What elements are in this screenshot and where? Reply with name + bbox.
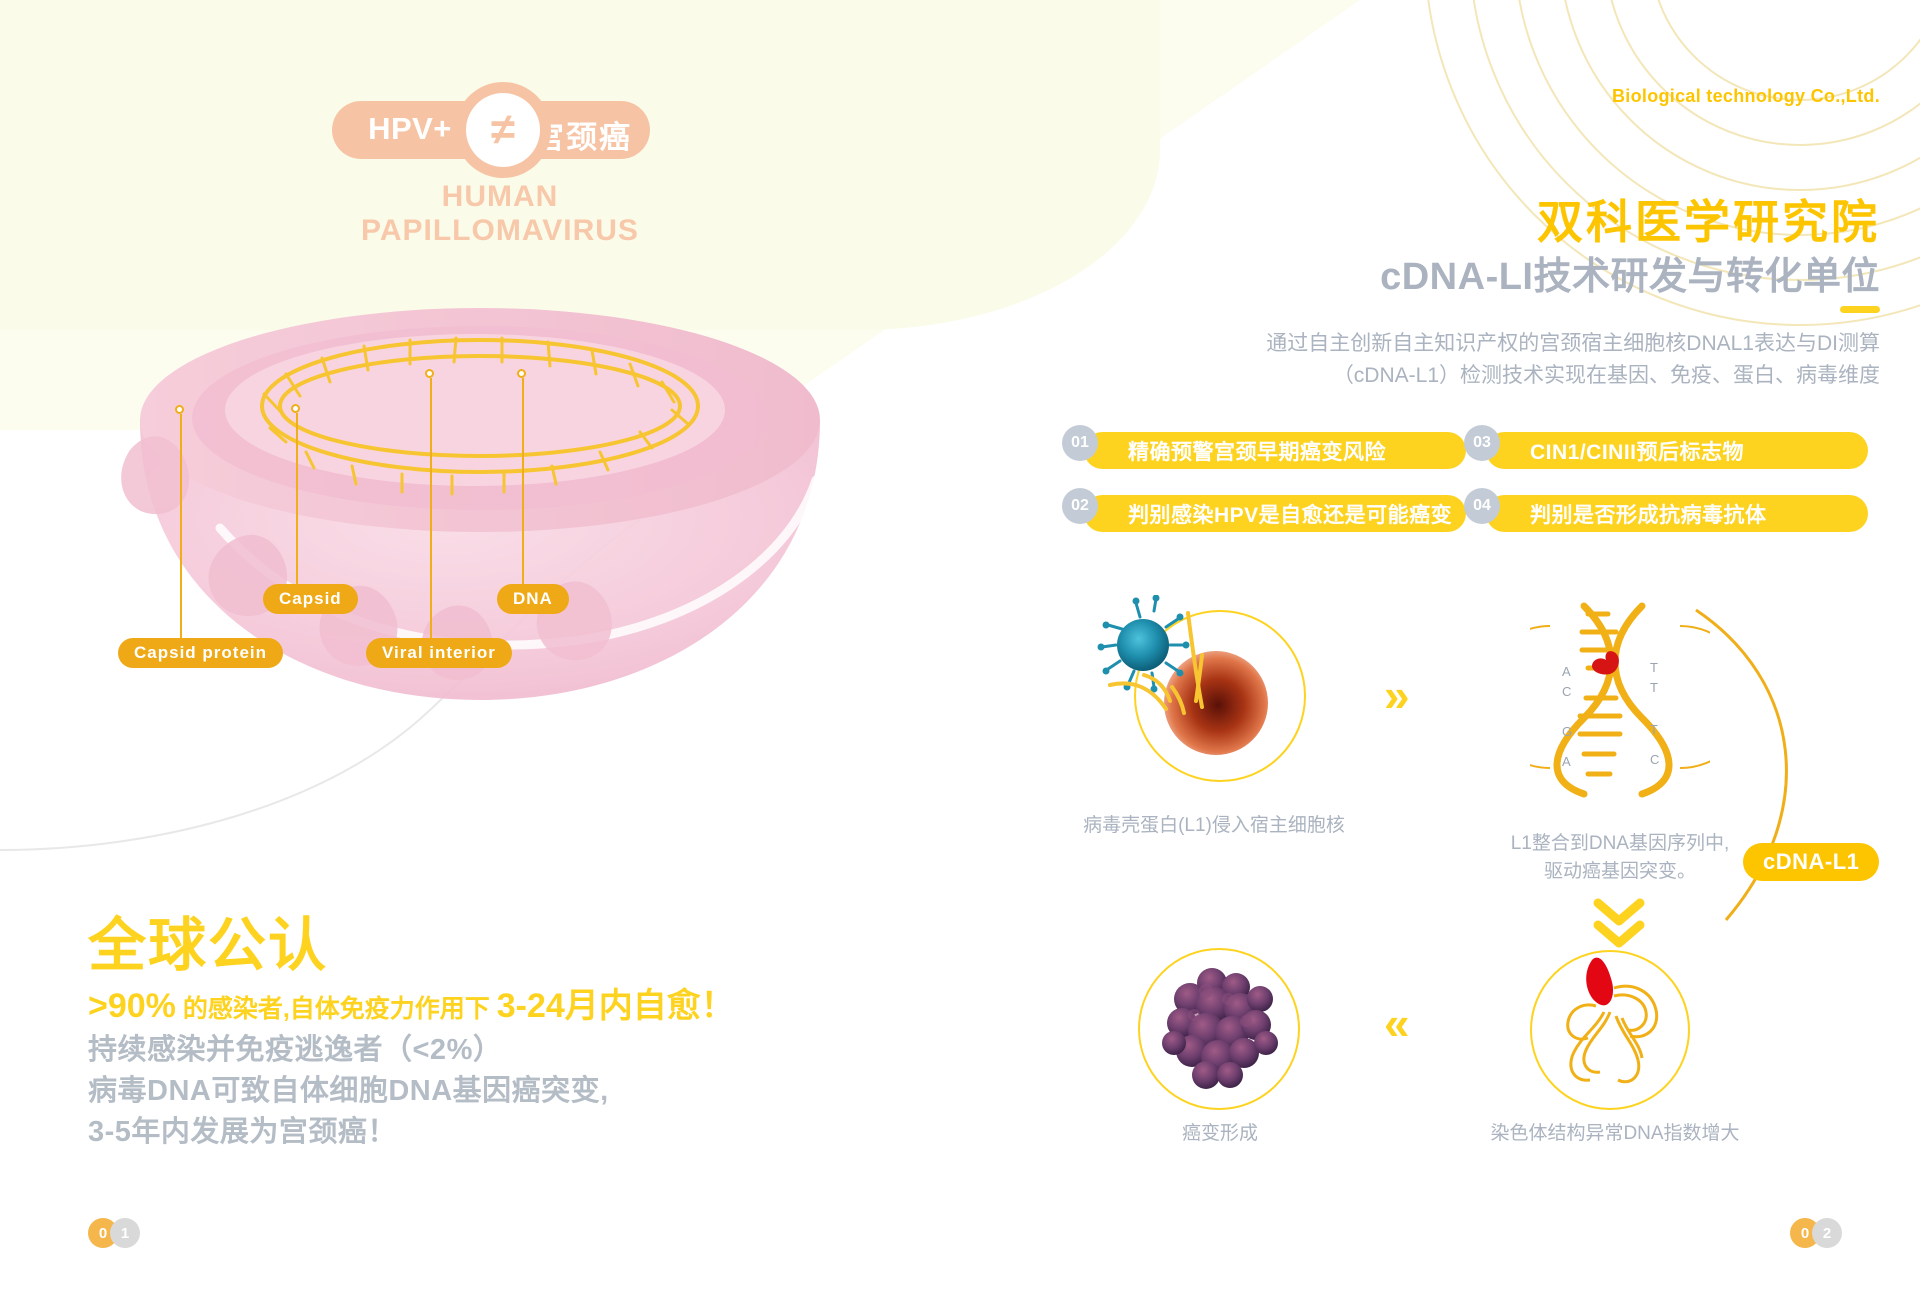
- leader-dot-dna: [517, 369, 526, 378]
- not-equal-icon: ≠: [466, 93, 540, 167]
- svg-text:T: T: [1650, 722, 1658, 737]
- background-wash-secondary: [0, 0, 1160, 330]
- feature-number-01: 01: [1062, 425, 1098, 461]
- body-line-1: 持续感染并免疫逃逸者（<2%）: [88, 1030, 609, 1071]
- hpv-full-name: HUMAN PAPILLOMAVIRUS: [300, 180, 700, 248]
- leader-line-dna: [522, 378, 524, 585]
- leader-dot-viral-interior: [425, 369, 434, 378]
- feature-pill-01[interactable]: 精确预警宫颈早期癌变风险: [1084, 432, 1466, 469]
- arrow-left-icon: «: [1384, 1000, 1410, 1046]
- label-dna[interactable]: DNA: [497, 584, 569, 614]
- label-capsid-protein[interactable]: Capsid protein: [118, 638, 283, 668]
- body-line-3: 3-5年内发展为宫颈癌！: [88, 1112, 609, 1153]
- leader-line-capsid-protein: [180, 414, 182, 644]
- institute-subtitle: cDNA-LI技术研发与转化单位: [1380, 245, 1880, 300]
- company-name: Biological technology Co.,Ltd.: [1612, 86, 1880, 107]
- leader-dot-capsid-protein: [175, 405, 184, 414]
- infographic-page: HPV+ 宫颈癌 ≠ HUMAN PAPILLOMAVIRUS: [0, 0, 1920, 1303]
- global-consensus-headline: 全球公认: [88, 898, 328, 982]
- feature-number-04: 04: [1464, 488, 1500, 524]
- svg-text:A: A: [1562, 664, 1571, 679]
- body-line-2: 病毒DNA可致自体细胞DNA基因癌突变,: [88, 1071, 609, 1112]
- label-viral-interior[interactable]: Viral interior: [366, 638, 512, 668]
- step1-caption: 病毒壳蛋白(L1)侵入宿主细胞核: [1064, 812, 1364, 840]
- step2-caption-line2: 驱动癌基因突变。: [1544, 861, 1696, 882]
- svg-text:C: C: [1562, 684, 1571, 699]
- svg-text:C: C: [1650, 752, 1659, 767]
- title-divider: [1840, 306, 1880, 313]
- svg-text:T: T: [1650, 660, 1658, 675]
- institute-title: 双科医学研究院: [1537, 186, 1880, 252]
- stat-duration: 3-24月内自愈！: [497, 987, 735, 1025]
- leader-line-viral-interior: [430, 378, 432, 638]
- institute-description: 通过自主创新自主知识产权的宫颈宿主细胞核DNAL1表达与DI测算（cDNA-L1…: [1220, 328, 1880, 392]
- svg-text:T: T: [1650, 680, 1658, 695]
- virus-invading-nucleus-illustration: [1096, 595, 1326, 795]
- feature-number-03: 03: [1464, 425, 1500, 461]
- tumor-mass-illustration: [1150, 955, 1300, 1105]
- feature-pill-02[interactable]: 判别感染HPV是自愈还是可能癌变: [1084, 495, 1466, 532]
- feature-pill-03[interactable]: CIN1/CINII预后标志物: [1486, 432, 1868, 469]
- feature-pill-04[interactable]: 判别是否形成抗病毒抗体: [1486, 495, 1868, 532]
- persistent-infection-body: 持续感染并免疫逃逸者（<2%） 病毒DNA可致自体细胞DNA基因癌突变, 3-5…: [88, 1030, 609, 1154]
- leader-dot-capsid: [291, 404, 300, 413]
- stat-percentage: >90%: [88, 987, 176, 1025]
- feature-number-02: 02: [1062, 488, 1098, 524]
- recovery-stat-line: >90% 的感染者,自体免疫力作用下 3-24月内自愈！: [88, 978, 735, 1027]
- svg-text:G: G: [1562, 724, 1572, 739]
- abnormal-chromosome-illustration: [1530, 940, 1710, 1120]
- svg-text:A: A: [1562, 754, 1571, 769]
- page-right-digit-2: 2: [1812, 1218, 1842, 1248]
- arrow-right-icon: »: [1384, 672, 1410, 718]
- page-left-digit-1: 1: [110, 1218, 140, 1248]
- cdna-l1-badge[interactable]: cDNA-L1: [1743, 843, 1879, 881]
- step3-caption: 染色体结构异常DNA指数增大: [1450, 1120, 1780, 1148]
- leader-line-capsid: [296, 413, 298, 585]
- stat-middle-text: 的感染者,自体免疫力作用下: [176, 995, 497, 1023]
- step4-caption: 癌变形成: [1120, 1120, 1320, 1148]
- dna-helix-mutation-illustration: A C G A T T T C: [1530, 598, 1710, 798]
- label-capsid[interactable]: Capsid: [263, 584, 358, 614]
